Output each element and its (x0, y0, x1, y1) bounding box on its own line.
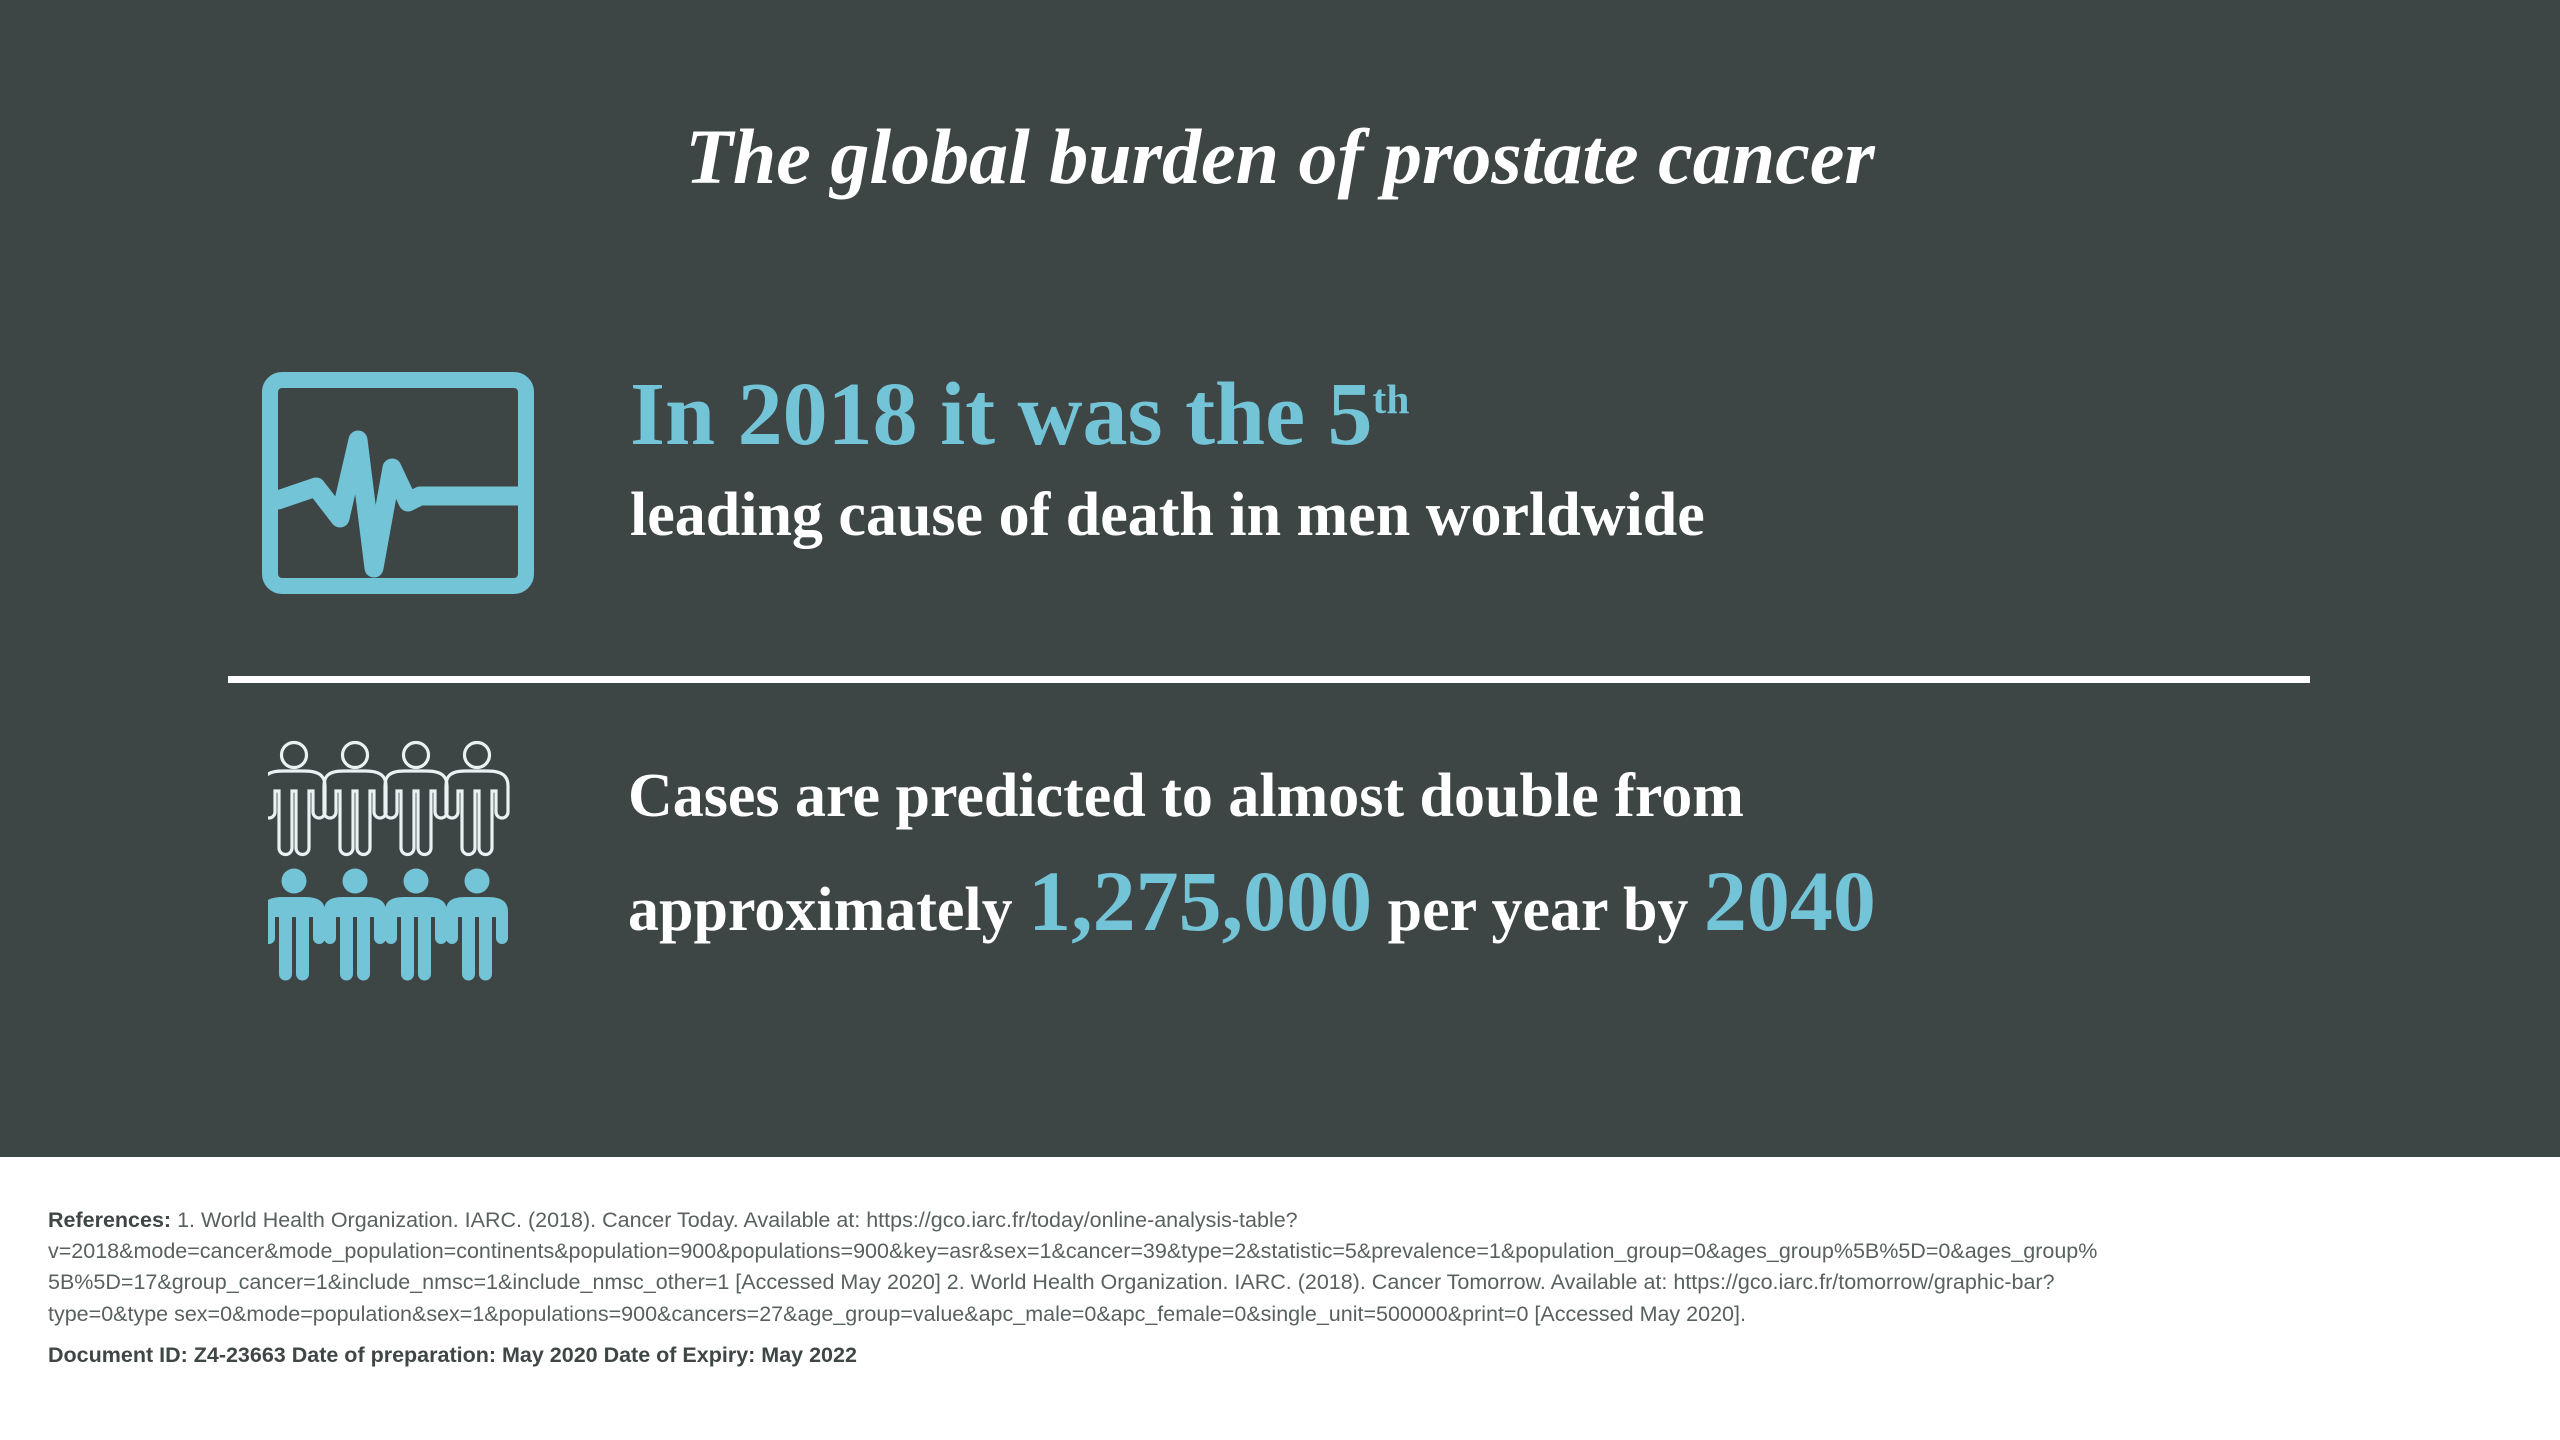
references-label: References: (48, 1208, 171, 1232)
people-group-icon (268, 738, 528, 988)
hero-panel: The global burden of prostate cancer In … (0, 0, 2560, 1157)
stat-1-subline: leading cause of death in men worldwide (630, 481, 2380, 549)
document-meta-line: Document ID: Z4-23663 Date of preparatio… (48, 1340, 2108, 1371)
stat-2-cases-number: 1,275,000 (1028, 853, 1372, 949)
stat-1-headline: In 2018 it was the 5th (630, 368, 2380, 463)
stat-2-line-1: Cases are predicted to almost double fro… (628, 762, 2428, 831)
ecg-monitor-icon (262, 372, 534, 594)
references-block: References: 1. World Health Organization… (48, 1205, 2108, 1371)
stat-2-approximately-label: approximately (628, 876, 1028, 944)
references-body: 1. World Health Organization. IARC. (201… (48, 1208, 2097, 1326)
stat-block-1-text: In 2018 it was the 5th leading cause of … (630, 368, 2380, 549)
stat-1-headline-main: In 2018 it was the 5 (630, 365, 1373, 464)
stat-2-per-year-label: per year by (1372, 876, 1704, 944)
footer-panel: References: 1. World Health Organization… (0, 1157, 2560, 1440)
page-title: The global burden of prostate cancer (0, 112, 2560, 202)
stat-block-2-text: Cases are predicted to almost double fro… (628, 762, 2428, 950)
stat-2-line-2: approximately 1,275,000 per year by 2040 (628, 853, 2428, 949)
stat-1-headline-superscript: th (1373, 376, 1410, 422)
section-divider (228, 676, 2310, 683)
stat-2-year-number: 2040 (1704, 853, 1876, 949)
infographic-page: The global burden of prostate cancer In … (0, 0, 2560, 1440)
